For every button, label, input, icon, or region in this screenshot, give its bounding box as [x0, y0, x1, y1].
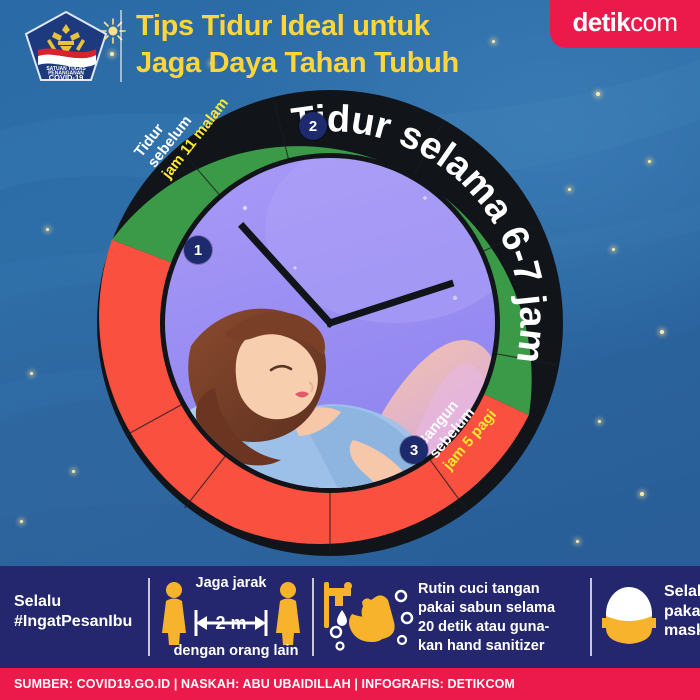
slogan-line1: Selalu [14, 592, 144, 612]
mask-text: Selalu pakai masker [664, 582, 700, 641]
brand-bold: detik [572, 7, 630, 37]
detikcom-logo[interactable]: detikcom [550, 0, 700, 48]
distancing-title: Jaga jarak [156, 574, 306, 593]
sparkle-icon [100, 18, 126, 44]
source-bar: SUMBER: COVID19.GO.ID | NASKAH: ABU UBAI… [0, 668, 700, 700]
brand-light: com [630, 7, 677, 37]
handwash-line3: 20 detik atau guna- [418, 618, 588, 637]
mask-line3: masker [664, 621, 700, 641]
panel-separator-3 [590, 578, 592, 656]
title-line-1: Tips Tidur Ideal untuk [136, 8, 536, 45]
distancing-caption: dengan orang lain [156, 642, 316, 661]
step-badge-2[interactable]: 2 [299, 112, 327, 140]
handwash-line4: kan hand sanitizer [418, 637, 588, 656]
step-badge-3[interactable]: 3 [400, 436, 428, 464]
handwash-line2: pakai sabun selama [418, 599, 588, 618]
mask-line2: pakai [664, 602, 700, 622]
handwash-text: Rutin cuci tangan pakai sabun selama 20 … [418, 580, 588, 655]
panel-separator-1 [148, 578, 150, 656]
panel-slogan: Selalu #IngatPesanIbu [14, 592, 144, 632]
step-badge-1[interactable]: 1 [184, 236, 212, 264]
satgas-covid19-logo: SATUAN TUGAS PENANGANAN COVID-19 [20, 10, 112, 84]
header: SATUAN TUGAS PENANGANAN COVID-19 Tips Ti… [0, 0, 700, 92]
distancing-distance: 2 m [156, 612, 306, 635]
source-text: SUMBER: COVID19.GO.ID | NASKAH: ABU UBAI… [0, 677, 515, 691]
logo-line3: COVID-19 [49, 73, 84, 82]
page-title: Tips Tidur Ideal untuk Jaga Daya Tahan T… [136, 8, 536, 82]
prevention-panel: Selalu #IngatPesanIbu [0, 566, 700, 668]
mask-line1: Selalu [664, 582, 700, 602]
panel-separator-2 [312, 578, 314, 656]
title-line-2: Jaga Daya Tahan Tubuh [136, 45, 536, 82]
handwash-icon [322, 580, 414, 656]
mask-icon [600, 582, 658, 652]
slogan-hashtag: #IngatPesanIbu [14, 612, 144, 632]
header-divider [120, 10, 122, 82]
handwash-line1: Rutin cuci tangan [418, 580, 588, 599]
infographic-canvas: SATUAN TUGAS PENANGANAN COVID-19 Tips Ti… [0, 0, 700, 700]
distancing-group: Jaga jarak 2 m dengan orang lain [156, 576, 306, 660]
sleep-clock-wheel: Tidur selama 6-7 jam Tidur sebelum jam 1… [95, 88, 565, 558]
